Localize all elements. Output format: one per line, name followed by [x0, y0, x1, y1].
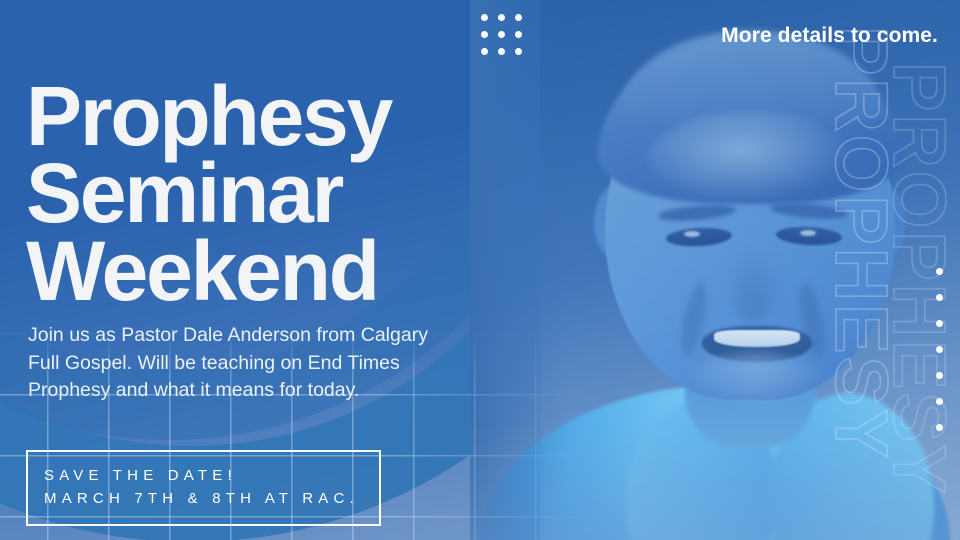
dot	[936, 294, 943, 301]
dot	[936, 424, 943, 431]
dot	[498, 14, 505, 21]
dot	[515, 48, 522, 55]
dot	[936, 346, 943, 353]
dot	[481, 31, 488, 38]
save-the-date-box: SAVE THE DATE! MARCH 7TH & 8TH AT RAC.	[26, 450, 381, 526]
dot	[515, 31, 522, 38]
dot	[936, 320, 943, 327]
dot-column-decoration	[936, 268, 943, 431]
dot	[936, 398, 943, 405]
dot	[498, 48, 505, 55]
poster-canvas: PROPHESY PROPHESY More details to come. …	[0, 0, 960, 540]
dot-grid-decoration	[481, 14, 532, 65]
watermark-group: PROPHESY PROPHESY	[776, 0, 960, 540]
page-title: Prophesy Seminar Weekend	[26, 78, 496, 310]
dot	[515, 14, 522, 21]
save-the-date-line-1: SAVE THE DATE!	[44, 464, 363, 487]
headline-line-3: Weekend	[26, 233, 496, 310]
headline-line-2: Seminar	[26, 155, 496, 232]
dot	[481, 14, 488, 21]
save-the-date-line-2: MARCH 7TH & 8TH AT RAC.	[44, 487, 363, 510]
dot	[936, 268, 943, 275]
dot	[481, 48, 488, 55]
watermark-text-back: PROPHESY	[877, 62, 960, 497]
body-description: Join us as Pastor Dale Anderson from Cal…	[28, 322, 428, 405]
dot	[936, 372, 943, 379]
dot	[498, 31, 505, 38]
tagline-text: More details to come.	[721, 24, 938, 48]
headline-line-1: Prophesy	[26, 78, 496, 155]
